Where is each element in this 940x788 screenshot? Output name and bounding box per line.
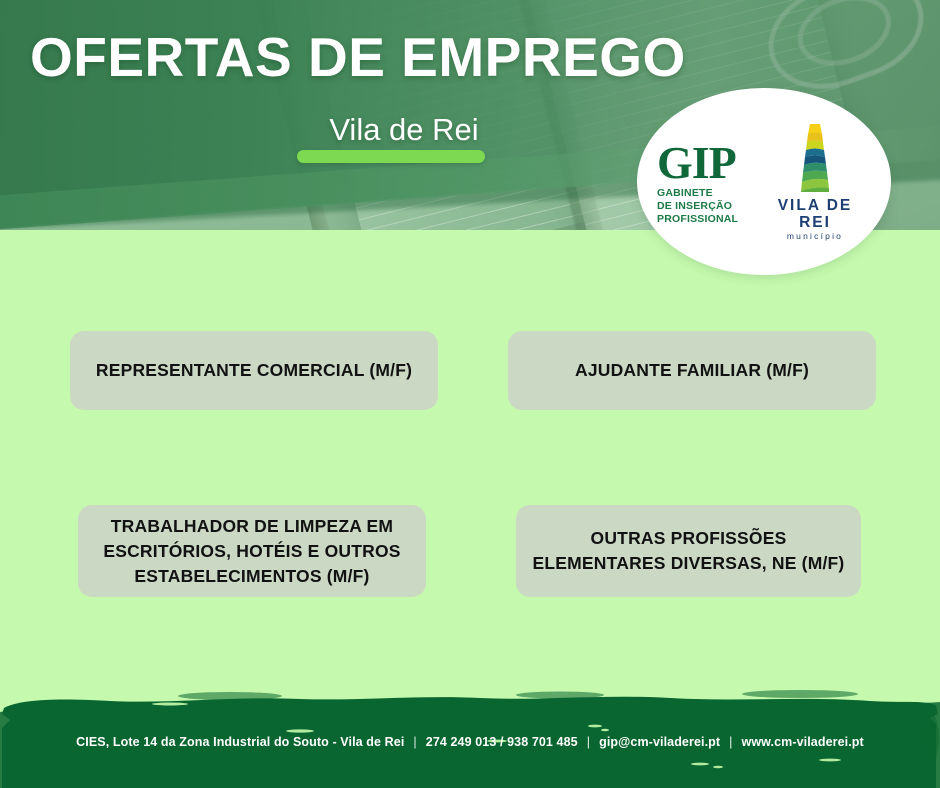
gip-line-2: DE INSERÇÃO: [657, 200, 753, 213]
poster: OFERTAS DE EMPREGO Vila de Rei GIP GABIN…: [0, 0, 940, 788]
gip-logo: GIP GABINETE DE INSERÇÃO PROFISSIONAL: [657, 137, 753, 226]
footer-separator: |: [578, 735, 599, 749]
job-card[interactable]: OUTRAS PROFISSÕES ELEMENTARES DIVERSAS, …: [516, 505, 861, 597]
footer-separator: |: [404, 735, 425, 749]
footer-email[interactable]: gip@cm-viladerei.pt: [599, 735, 720, 749]
job-card[interactable]: REPRESENTANTE COMERCIAL (M/F): [70, 331, 438, 410]
footer: CIES, Lote 14 da Zona Industrial do Sout…: [0, 668, 940, 788]
job-card[interactable]: AJUDANTE FAMILIAR (M/F): [508, 331, 876, 410]
footer-contact-bar: CIES, Lote 14 da Zona Industrial do Sout…: [0, 668, 940, 788]
vila-de-rei-tower-icon: [788, 122, 842, 194]
municipality-subtitle: município: [759, 231, 871, 242]
municipality-name: VILA DE REI: [759, 197, 871, 231]
gip-line-3: PROFISSIONAL: [657, 213, 753, 226]
footer-separator: |: [720, 735, 741, 749]
footer-phones: 274 249 013 / 938 701 485: [426, 735, 578, 749]
gip-line-1: GABINETE: [657, 187, 753, 200]
vila-de-rei-logo: VILA DE REI município: [759, 122, 871, 242]
logo-badge: GIP GABINETE DE INSERÇÃO PROFISSIONAL VI…: [637, 88, 891, 275]
page-title: OFERTAS DE EMPREGO: [30, 28, 670, 86]
job-card[interactable]: TRABALHADOR DE LIMPEZA EM ESCRITÓRIOS, H…: [78, 505, 426, 597]
gip-acronym: GIP: [657, 141, 753, 185]
accent-bar: [297, 150, 485, 163]
footer-address: CIES, Lote 14 da Zona Industrial do Sout…: [76, 735, 404, 749]
footer-website[interactable]: www.cm-viladerei.pt: [742, 735, 864, 749]
